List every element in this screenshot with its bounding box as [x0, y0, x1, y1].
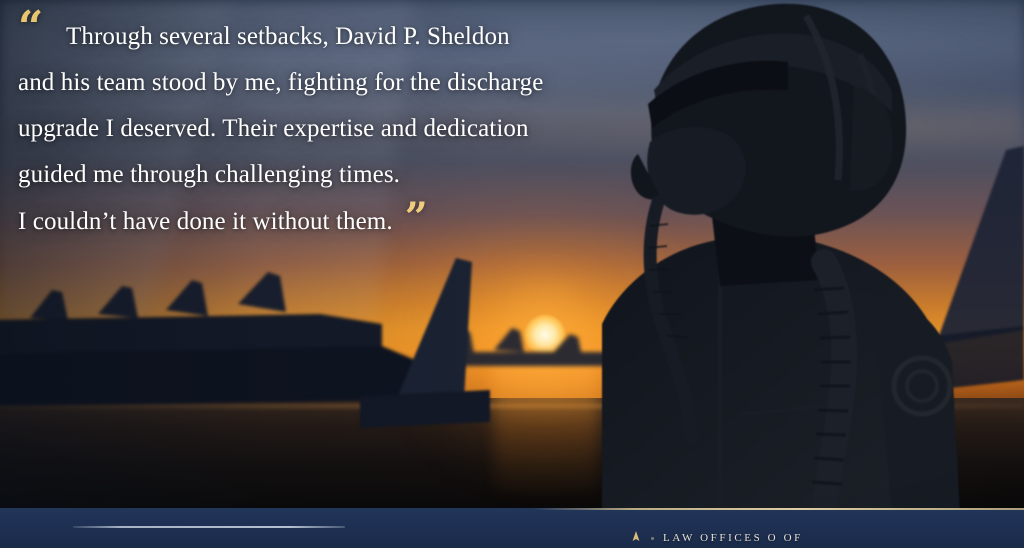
open-quote-icon: “: [18, 6, 43, 50]
quote-line-1: Through several setbacks, David P. Sheld…: [18, 14, 600, 60]
quote-line-4: guided me through challenging times.: [18, 152, 600, 198]
gold-accent-line: [0, 508, 1024, 510]
quote-line-2: and his team stood by me, fighting for t…: [18, 60, 600, 106]
pilot-silhouette: [592, 0, 1012, 508]
testimonial-hero: “ Through several setbacks, David P. She…: [0, 0, 1024, 548]
brand-lockup[interactable]: LAW OFFICES O OF: [630, 530, 803, 546]
footer-divider-rule: [73, 526, 345, 528]
testimonial-quote: “ Through several setbacks, David P. She…: [0, 0, 600, 245]
close-quote-icon: ”: [405, 198, 428, 238]
quote-line-3: upgrade I deserved. Their expertise and …: [18, 106, 600, 152]
quote-line-5: I couldn’t have done it without them.”: [18, 198, 600, 245]
brand-separator-dot: [651, 537, 654, 540]
large-aircraft-tail-left: [360, 250, 490, 430]
site-footer-bar: LAW OFFICES O OF: [0, 508, 1024, 548]
gold-chevron-emblem: [630, 530, 642, 546]
brand-name: LAW OFFICES O OF: [663, 532, 803, 544]
quote-line-5-text: I couldn’t have done it without them.: [18, 208, 393, 235]
